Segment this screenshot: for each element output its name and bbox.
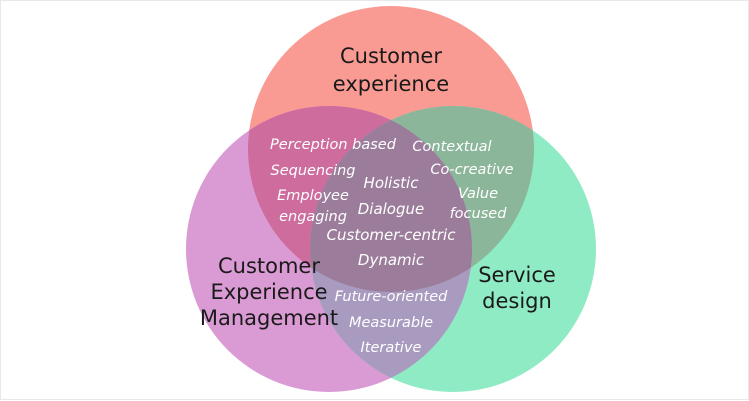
circle-title-line: experience — [333, 72, 449, 96]
venn-diagram-svg: Customer experience Customer Experience … — [1, 1, 749, 401]
circle-title-line: Service — [478, 263, 556, 287]
overlap-item: Co-creative — [430, 162, 513, 178]
overlap-item: Perception based — [270, 137, 397, 153]
overlap-item: Dialogue — [358, 200, 425, 218]
overlap-item: engaging — [279, 209, 347, 225]
overlap-item: Future-oriented — [335, 289, 449, 305]
overlap-item: Iterative — [361, 340, 422, 356]
label-customer-experience-management: Customer Experience Management — [200, 254, 338, 330]
circle-title-line: Customer — [340, 44, 442, 68]
overlap-item: Dynamic — [358, 251, 425, 269]
circle-title-line: Customer — [218, 254, 320, 278]
overlap-item: Measurable — [349, 315, 433, 331]
overlap-item: Sequencing — [270, 163, 355, 179]
overlap-item: Customer-centric — [327, 226, 457, 244]
overlap-item: focused — [450, 206, 508, 222]
venn-diagram-canvas: Customer experience Customer Experience … — [0, 0, 749, 400]
overlap-item: Contextual — [412, 139, 491, 155]
overlap-item: Holistic — [364, 174, 420, 192]
circle-title-line: Experience — [210, 280, 327, 304]
circle-title-line: Management — [200, 306, 338, 330]
overlap-item: Employee — [277, 188, 349, 204]
circle-title-line: design — [482, 289, 552, 313]
overlap-item: Value — [458, 186, 498, 202]
